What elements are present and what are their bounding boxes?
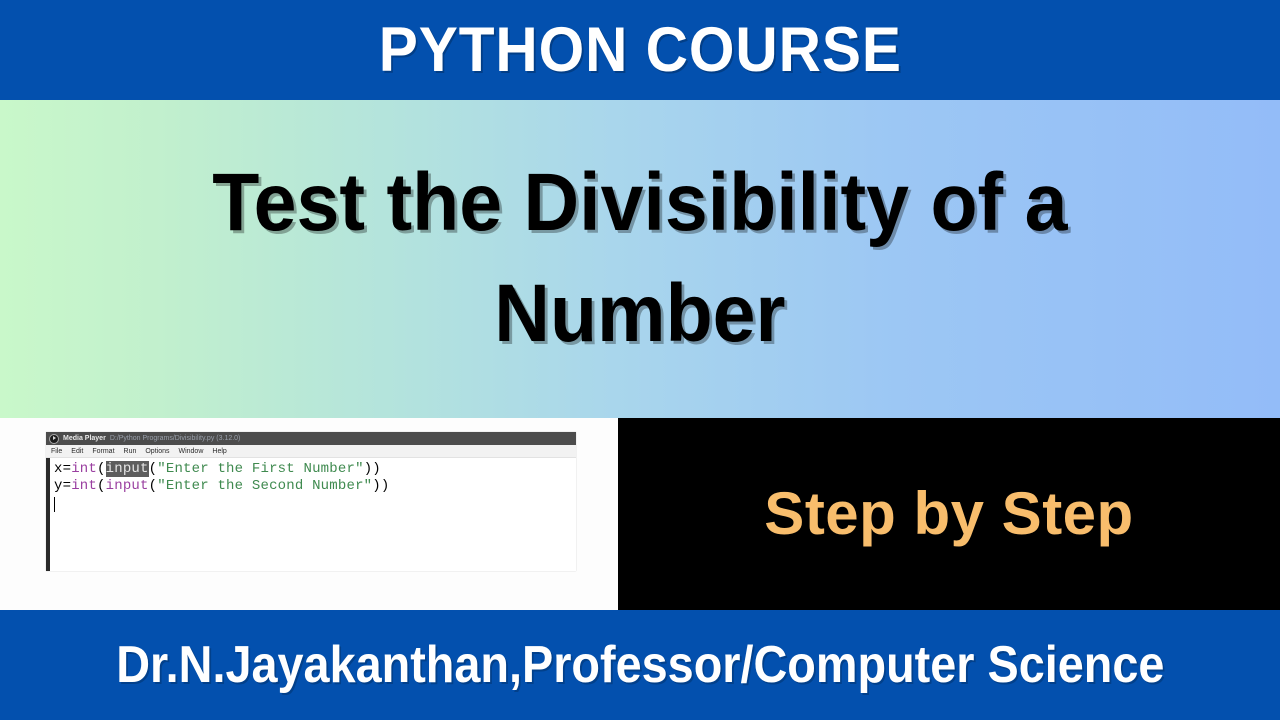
code-token-plain: )) (372, 478, 389, 494)
code-token-plain: ( (97, 461, 106, 477)
editor-code-area[interactable]: x=int(input("Enter the First Number")) y… (46, 458, 576, 571)
code-token-plain: )) (364, 461, 381, 477)
editor-titlebar: Media Player D:/Python Programs/Divisibi… (46, 432, 576, 445)
text-caret (54, 497, 55, 512)
menu-format[interactable]: Format (92, 448, 114, 455)
code-token-plain: y= (54, 478, 71, 494)
menu-help[interactable]: Help (212, 448, 226, 455)
code-token-plain: ( (149, 461, 158, 477)
lesson-title-line-2: Number (494, 259, 785, 370)
footer-banner: Dr.N.Jayakanthan,Professor/Computer Scie… (0, 610, 1280, 720)
course-title: PYTHON COURSE (378, 19, 901, 82)
editor-file-path: D:/Python Programs/Divisibility.py (3.12… (110, 435, 241, 442)
lesson-title-line-1: Test the Divisibility of a (212, 148, 1067, 259)
code-token-plain: x= (54, 461, 71, 477)
menu-options[interactable]: Options (145, 448, 169, 455)
code-token-plain: ( (149, 478, 158, 494)
code-screenshot-panel: Media Player D:/Python Programs/Divisibi… (0, 418, 618, 610)
editor-app-name: Media Player (63, 435, 106, 442)
editor-menubar: File Edit Format Run Options Window Help (46, 445, 576, 458)
presenter-credit: Dr.N.Jayakanthan,Professor/Computer Scie… (116, 639, 1164, 691)
code-line[interactable]: x=int(input("Enter the First Number")) (54, 461, 576, 478)
header-banner: PYTHON COURSE (0, 0, 1280, 100)
slide-root: PYTHON COURSE Test the Divisibility of a… (0, 0, 1280, 720)
code-token-string: "Enter the First Number" (157, 461, 363, 477)
menu-window[interactable]: Window (178, 448, 203, 455)
python-editor-window: Media Player D:/Python Programs/Divisibi… (46, 432, 576, 571)
code-token-keyword: input (106, 478, 149, 494)
title-banner: Test the Divisibility of a Number (0, 100, 1280, 418)
code-token-keyword: int (71, 461, 97, 477)
menu-run[interactable]: Run (124, 448, 137, 455)
code-token-selected: input (106, 461, 149, 477)
code-token-string: "Enter the Second Number" (157, 478, 372, 494)
code-token-keyword: int (71, 478, 97, 494)
menu-file[interactable]: File (51, 448, 62, 455)
code-line[interactable]: y=int(input("Enter the Second Number")) (54, 478, 576, 495)
step-by-step-label: Step by Step (764, 484, 1133, 544)
step-by-step-panel: Step by Step (618, 418, 1280, 610)
code-token-plain: ( (97, 478, 106, 494)
menu-edit[interactable]: Edit (71, 448, 83, 455)
content-row: Media Player D:/Python Programs/Divisibi… (0, 418, 1280, 610)
media-player-icon (49, 434, 59, 444)
